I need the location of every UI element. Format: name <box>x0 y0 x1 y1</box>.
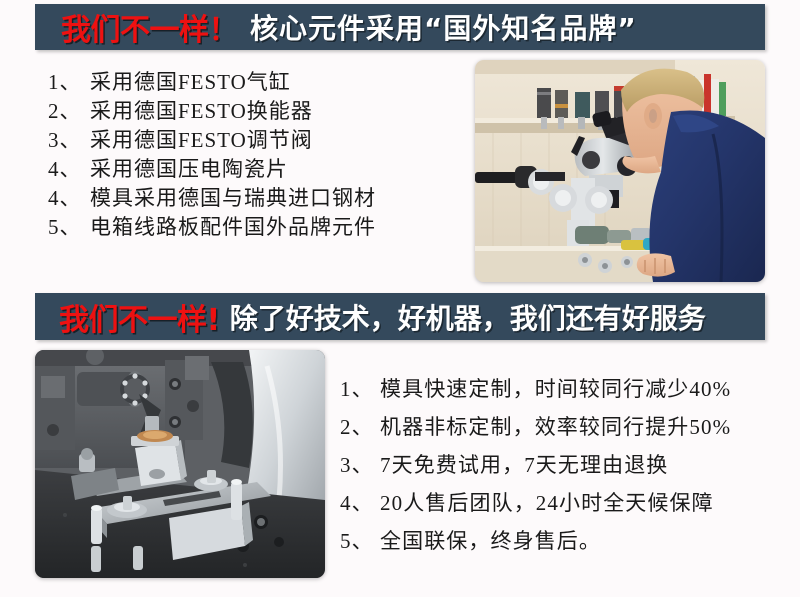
list-item-text: 7天免费试用，7天无理由退换 <box>380 453 668 477</box>
list-item-number: 1、 <box>48 68 90 97</box>
list-item: 4、20人售后团队，24小时全天候保障 <box>340 484 790 522</box>
section-one-feature-list: 1、采用德国FESTO气缸 2、采用德国FESTO换能器 3、采用德国FESTO… <box>48 68 448 242</box>
microscope-inspection-image <box>475 60 765 282</box>
list-item: 4、模具采用德国与瑞典进口钢材 <box>48 184 448 213</box>
promo-page: 我们不一样！ 核心元件采用“国外知名品牌” 1、采用德国FESTO气缸 2、采用… <box>0 0 800 597</box>
list-item-number: 1、 <box>340 370 380 408</box>
list-item-text: 机器非标定制，效率较同行提升50% <box>380 415 731 439</box>
list-item-text: 20人售后团队，24小时全天候保障 <box>380 491 714 515</box>
list-item: 1、模具快速定制，时间较同行减少40% <box>340 370 790 408</box>
list-item-number: 4、 <box>340 484 380 522</box>
list-item-text: 全国联保，终身售后。 <box>380 529 601 553</box>
list-item-number: 2、 <box>340 408 380 446</box>
microscope-inspection-photo <box>475 60 765 282</box>
list-item-text: 采用德国FESTO气缸 <box>90 70 291 94</box>
section-one-banner-title: 核心元件采用“国外知名品牌” <box>250 7 637 47</box>
precision-tooling-photo <box>35 350 325 578</box>
list-item: 2、采用德国FESTO换能器 <box>48 97 448 126</box>
list-item: 1、采用德国FESTO气缸 <box>48 68 448 97</box>
list-item: 4、采用德国压电陶瓷片 <box>48 155 448 184</box>
section-one-banner-highlight: 我们不一样！ <box>61 5 238 49</box>
list-item-number: 3、 <box>48 126 90 155</box>
list-item-text: 采用德国FESTO调节阀 <box>90 128 313 152</box>
list-item: 2、机器非标定制，效率较同行提升50% <box>340 408 790 446</box>
list-item-number: 4、 <box>48 184 90 213</box>
list-item-number: 2、 <box>48 97 90 126</box>
section-two-banner: 我们不一样! 除了好技术，好机器，我们还有好服务 <box>35 293 765 340</box>
list-item-text: 模具采用德国与瑞典进口钢材 <box>90 186 376 210</box>
section-two-feature-list: 1、模具快速定制，时间较同行减少40% 2、机器非标定制，效率较同行提升50% … <box>340 370 790 560</box>
list-item-number: 4、 <box>48 155 90 184</box>
list-item-text: 电箱线路板配件国外品牌元件 <box>90 215 376 239</box>
list-item-number: 5、 <box>48 213 90 242</box>
list-item: 5、电箱线路板配件国外品牌元件 <box>48 213 448 242</box>
list-item-number: 5、 <box>340 522 380 560</box>
list-item-text: 采用德国FESTO换能器 <box>90 99 313 123</box>
list-item-text: 模具快速定制，时间较同行减少40% <box>380 377 731 401</box>
section-two-banner-title: 除了好技术，好机器，我们还有好服务 <box>230 297 706 337</box>
list-item: 5、全国联保，终身售后。 <box>340 522 790 560</box>
list-item: 3、采用德国FESTO调节阀 <box>48 126 448 155</box>
list-item-number: 3、 <box>340 446 380 484</box>
list-item-text: 采用德国压电陶瓷片 <box>90 157 288 181</box>
section-two-banner-highlight: 我们不一样! <box>59 295 220 339</box>
section-one-banner: 我们不一样！ 核心元件采用“国外知名品牌” <box>35 4 765 50</box>
list-item: 3、7天免费试用，7天无理由退换 <box>340 446 790 484</box>
precision-tooling-image <box>35 350 325 578</box>
